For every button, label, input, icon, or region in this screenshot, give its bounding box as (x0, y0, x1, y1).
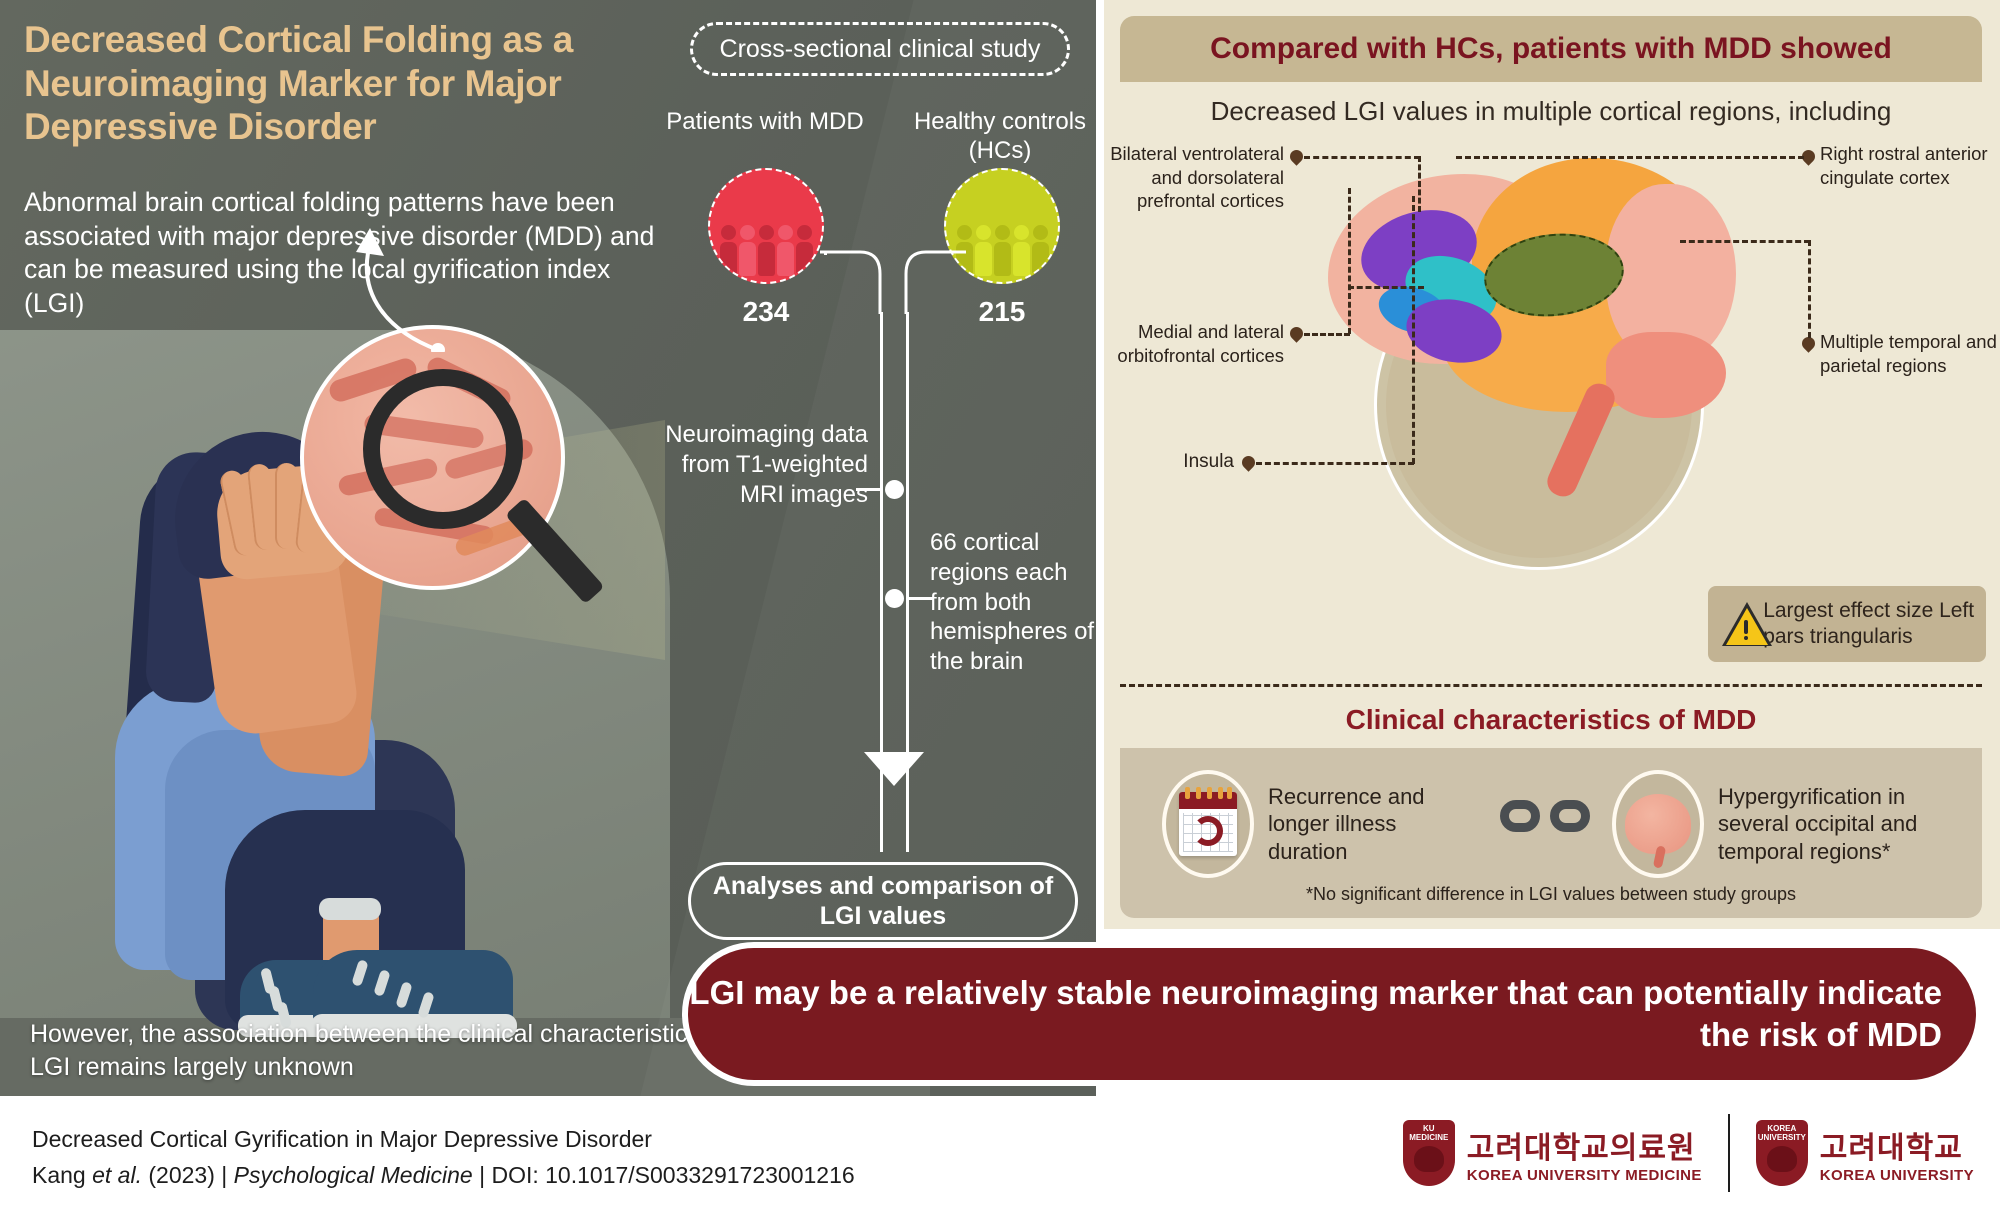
ku-medicine-logo: KU MEDICINE 고려대학교의료원 KOREA UNIVERSITY ME… (1403, 1120, 1702, 1186)
clinical-item-recurrence: Recurrence and longer illness duration (1162, 770, 1458, 878)
leader-rise-insula (1412, 196, 1415, 464)
label-prefrontal: Bilateral ventrolateral and dorsolateral… (1084, 142, 1284, 213)
logo-divider (1728, 1114, 1730, 1192)
brain-icon (1612, 770, 1704, 878)
article-title: Decreased Cortical Gyrification in Major… (32, 1122, 855, 1158)
group-merge-connector (818, 248, 968, 318)
brain-diagram (1254, 140, 1854, 580)
magnifier-lens (363, 369, 523, 529)
korea-university-logo: KOREA UNIVERSITY 고려대학교 KOREA UNIVERSITY (1756, 1120, 1974, 1186)
journal-name: Psychological Medicine (234, 1162, 473, 1188)
leader-line-prefrontal (1304, 156, 1420, 159)
hc-people-icons (956, 225, 1049, 282)
mdd-group-circle (708, 168, 824, 284)
mdd-count: 234 (708, 296, 824, 328)
doi[interactable]: DOI: 10.1017/S0033291723001216 (491, 1162, 854, 1188)
section-divider (1120, 684, 1982, 687)
page-subtitle: Abnormal brain cortical folding patterns… (24, 186, 664, 321)
chain-link-icon (1500, 800, 1590, 832)
citation-sep-2: | (479, 1162, 485, 1188)
clinical-characteristics-band: Recurrence and longer illness duration H… (1120, 748, 1982, 918)
citation-line: Kang et al. (2023) | Psychological Medic… (32, 1158, 855, 1194)
results-subhead: Decreased LGI values in multiple cortica… (1120, 96, 1982, 127)
korea-university-shield-icon: KOREA UNIVERSITY (1756, 1120, 1808, 1186)
leader-line-orbitofrontal (1304, 333, 1350, 336)
page-title: Decreased Cortical Folding as a Neuroima… (24, 18, 664, 149)
results-panel: Compared with HCs, patients with MDD sho… (1104, 0, 2000, 929)
mdd-people-icons (720, 225, 813, 282)
clinical-item-recurrence-text: Recurrence and longer illness duration (1268, 783, 1458, 865)
step-imaging-label: Neuroimaging data from T1-weighted MRI i… (662, 420, 868, 509)
citation-block: Decreased Cortical Gyrification in Major… (32, 1122, 855, 1193)
infographic-root: Decreased Cortical Folding as a Neuroima… (0, 0, 2000, 1229)
korea-university-english: KOREA UNIVERSITY (1820, 1167, 1974, 1184)
citation-sep-1: | (221, 1162, 227, 1188)
leader-line-insula (1256, 462, 1414, 465)
mdd-group-label: Patients with MDD (660, 108, 870, 137)
clinical-footnote: *No significant difference in LGI values… (1120, 884, 1982, 905)
korea-university-korean: 고려대학교 (1820, 1123, 1974, 1167)
results-header: Compared with HCs, patients with MDD sho… (1120, 16, 1982, 82)
leader-rise-orbitofrontal (1348, 188, 1351, 334)
step-regions-label: 66 cortical regions each from both hemis… (930, 528, 1110, 677)
ku-medicine-english: KOREA UNIVERSITY MEDICINE (1467, 1167, 1702, 1184)
label-cingulate: Right rostral anterior cingulate cortex (1820, 142, 2000, 189)
calendar-icon (1162, 770, 1254, 878)
tick-regions (908, 597, 934, 600)
label-orbitofrontal: Medial and lateral orbitofrontal cortice… (1084, 320, 1284, 367)
footer: Decreased Cortical Gyrification in Major… (0, 1096, 2000, 1229)
leader-drop-prefrontal (1418, 156, 1421, 212)
korea-university-shield-text: KOREA UNIVERSITY (1756, 1125, 1808, 1143)
conclusion-banner: LGI may be a relatively stable neuroimag… (682, 942, 1982, 1086)
node-regions (885, 589, 904, 608)
ku-medicine-shield-icon: KU MEDICINE (1403, 1120, 1455, 1186)
citation-author: Kang (32, 1162, 86, 1188)
hc-group-label: Healthy controls (HCs) (892, 108, 1108, 166)
study-flow-column: Cross-sectional clinical study Patients … (680, 0, 1096, 1096)
clinical-characteristics-title: Clinical characteristics of MDD (1120, 704, 1982, 736)
clinical-item-hypergyrification-text: Hypergyrification in several occipital a… (1718, 783, 1968, 865)
magnifier-brain-illustration (300, 325, 590, 625)
citation-year: (2023) (148, 1162, 214, 1188)
citation-etal: et al. (92, 1162, 142, 1188)
effect-size-box: Largest effect size Left pars triangular… (1708, 586, 1986, 662)
ku-medicine-korean: 고려대학교의료원 (1467, 1123, 1702, 1167)
study-type-chip: Cross-sectional clinical study (690, 22, 1070, 76)
tick-imaging (856, 488, 882, 491)
clinical-item-hypergyrification: Hypergyrification in several occipital a… (1612, 770, 1968, 878)
effect-size-text: Largest effect size Left pars triangular… (1763, 598, 1986, 649)
leader-rise-temporal (1808, 240, 1811, 338)
ku-medicine-shield-text: KU MEDICINE (1403, 1125, 1455, 1143)
leader-line-temporal (1680, 240, 1810, 243)
logo-group: KU MEDICINE 고려대학교의료원 KOREA UNIVERSITY ME… (1403, 1114, 1974, 1192)
warning-triangle-icon (1722, 602, 1751, 646)
flow-arrowhead (864, 752, 924, 786)
outcome-pill: Analyses and comparison of LGI values (688, 862, 1078, 940)
node-imaging (885, 480, 904, 499)
cerebellum (1606, 332, 1726, 418)
label-insula: Insula (974, 450, 1234, 474)
label-temporal-parietal: Multiple temporal and parietal regions (1820, 330, 2000, 377)
leader-line-cingulate (1456, 156, 1804, 159)
